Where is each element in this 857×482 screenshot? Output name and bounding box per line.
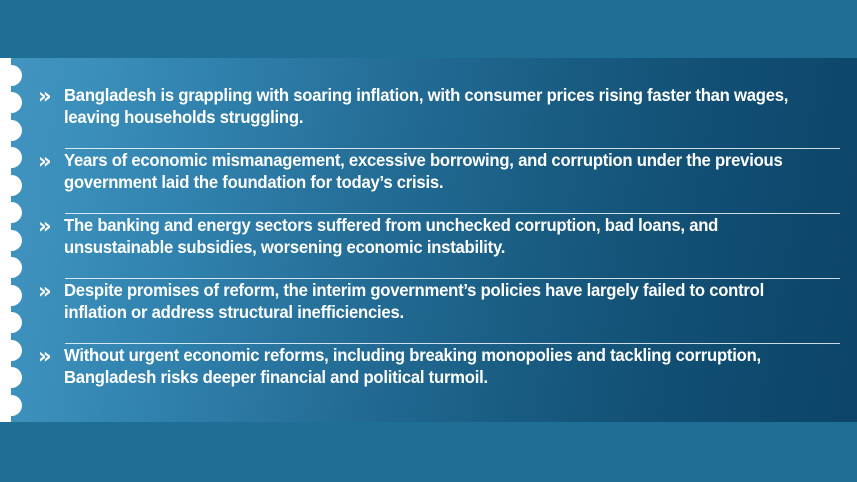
list-item-text: Years of economic mismanagement, excessi…	[64, 149, 821, 194]
double-chevron-icon: »	[38, 150, 64, 172]
bullet-list: » Bangladesh is grappling with soaring i…	[38, 58, 848, 422]
slide-canvas: » Bangladesh is grappling with soaring i…	[0, 0, 857, 482]
double-chevron-icon: »	[38, 345, 64, 367]
double-chevron-icon: »	[38, 280, 64, 302]
list-item[interactable]: » Bangladesh is grappling with soaring i…	[38, 84, 848, 148]
double-chevron-icon: »	[38, 85, 64, 107]
double-chevron-icon: »	[38, 215, 64, 237]
top-band	[0, 0, 857, 58]
list-item[interactable]: » Without urgent economic reforms, inclu…	[38, 344, 848, 408]
list-item-text: Despite promises of reform, the interim …	[64, 279, 821, 324]
list-item[interactable]: » Years of economic mismanagement, exces…	[38, 149, 848, 213]
list-item-text: Bangladesh is grappling with soaring inf…	[64, 84, 821, 129]
list-item[interactable]: » The banking and energy sectors suffere…	[38, 214, 848, 278]
list-item[interactable]: » Despite promises of reform, the interi…	[38, 279, 848, 343]
list-item-text: The banking and energy sectors suffered …	[64, 214, 821, 259]
list-item-text: Without urgent economic reforms, includi…	[64, 344, 821, 389]
bottom-band	[0, 422, 857, 482]
